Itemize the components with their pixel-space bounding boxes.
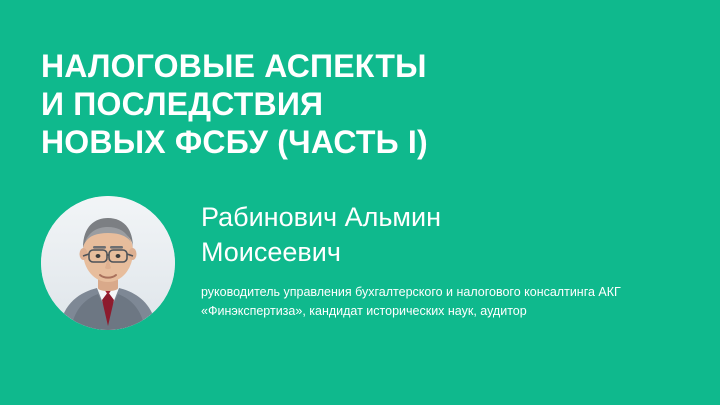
speaker-name-line-2: Моисеевич [201,235,581,270]
presentation-slide: НАЛОГОВЫЕ АСПЕКТЫ И ПОСЛЕДСТВИЯ НОВЫХ ФС… [0,0,720,405]
speaker-name-line-1: Рабинович Альмин [201,200,581,235]
speaker-avatar [41,196,175,330]
speaker-role: руководитель управления бухгалтерского и… [201,283,631,321]
title-line-1: НАЛОГОВЫЕ АСПЕКТЫ [41,47,681,85]
speaker-portrait-icon [41,196,175,330]
slide-title: НАЛОГОВЫЕ АСПЕКТЫ И ПОСЛЕДСТВИЯ НОВЫХ ФС… [41,47,681,161]
title-line-3: НОВЫХ ФСБУ (ЧАСТЬ I) [41,123,681,161]
speaker-block: Рабинович Альмин Моисеевич руководитель … [41,196,691,330]
speaker-info: Рабинович Альмин Моисеевич руководитель … [201,196,691,321]
title-line-2: И ПОСЛЕДСТВИЯ [41,85,681,123]
